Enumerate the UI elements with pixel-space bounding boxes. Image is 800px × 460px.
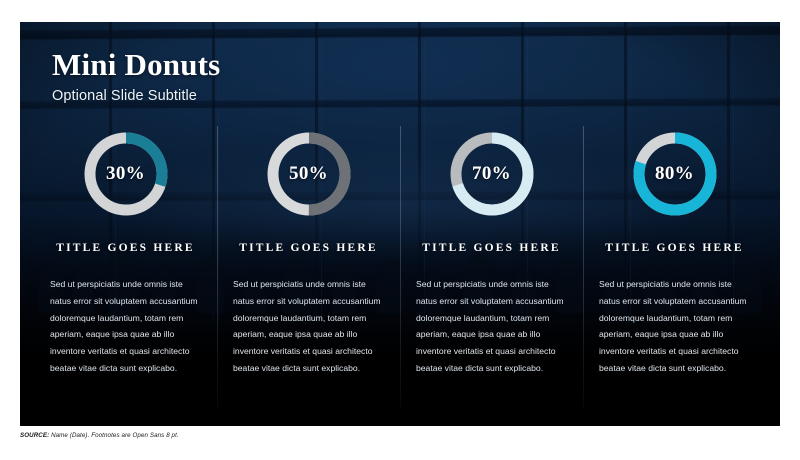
column-title: TITLE GOES HERE bbox=[56, 242, 194, 254]
column-title: TITLE GOES HERE bbox=[239, 242, 377, 254]
column-body-text: Sed ut perspiciatis unde omnis iste natu… bbox=[50, 276, 201, 377]
slide-subtitle: Optional Slide Subtitle bbox=[52, 88, 220, 104]
footer-source: SOURCE: Name (Date). Footnotes are Open … bbox=[20, 432, 780, 439]
donut-percent-label: 80% bbox=[629, 128, 721, 220]
donut-column-2: 50% TITLE GOES HERE Sed ut perspiciatis … bbox=[217, 126, 400, 408]
source-label: SOURCE: bbox=[20, 432, 49, 439]
donut-percent-label: 70% bbox=[446, 128, 538, 220]
donut-chart-80: 80% bbox=[629, 128, 721, 220]
column-title: TITLE GOES HERE bbox=[422, 242, 560, 254]
donut-chart-70: 70% bbox=[446, 128, 538, 220]
slide-canvas: Mini Donuts Optional Slide Subtitle 30% … bbox=[20, 22, 780, 426]
page-title: Mini Donuts bbox=[52, 48, 220, 81]
donut-chart-30: 30% bbox=[80, 128, 172, 220]
source-text: Name (Date). Footnotes are Open Sans 8 p… bbox=[51, 432, 179, 439]
donut-column-4: 80% TITLE GOES HERE Sed ut perspiciatis … bbox=[583, 126, 766, 408]
donut-percent-label: 30% bbox=[80, 128, 172, 220]
donut-column-1: 30% TITLE GOES HERE Sed ut perspiciatis … bbox=[34, 126, 217, 408]
column-body-text: Sed ut perspiciatis unde omnis iste natu… bbox=[233, 276, 384, 377]
slide-header: Mini Donuts Optional Slide Subtitle bbox=[52, 48, 220, 104]
donut-chart-50: 50% bbox=[263, 128, 355, 220]
donut-column-3: 70% TITLE GOES HERE Sed ut perspiciatis … bbox=[400, 126, 583, 408]
column-body-text: Sed ut perspiciatis unde omnis iste natu… bbox=[416, 276, 567, 377]
column-title: TITLE GOES HERE bbox=[605, 242, 743, 254]
donut-columns: 30% TITLE GOES HERE Sed ut perspiciatis … bbox=[34, 126, 766, 408]
donut-percent-label: 50% bbox=[263, 128, 355, 220]
column-body-text: Sed ut perspiciatis unde omnis iste natu… bbox=[599, 276, 750, 377]
